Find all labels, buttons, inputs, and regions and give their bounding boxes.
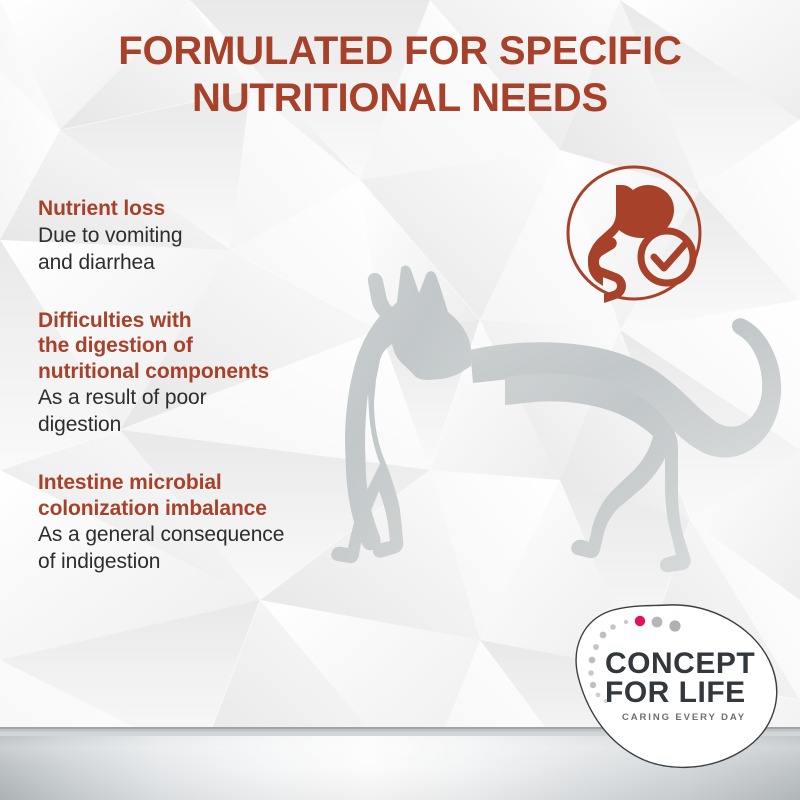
- list-item-body: As a general consequence of indigestion: [38, 521, 438, 575]
- list-item-title: Intestine microbial colonization imbalan…: [38, 470, 438, 521]
- page-title: FORMULATED FOR SPECIFIC NUTRITIONAL NEED…: [0, 28, 800, 122]
- list-item-body-line: and diarrhea: [38, 249, 438, 276]
- list-item-body: As a result of poor digestion: [38, 384, 438, 438]
- page-title-line-2: NUTRITIONAL NEEDS: [0, 75, 800, 122]
- list-item-body-line: As a result of poor: [38, 384, 438, 411]
- list-item-body-line: As a general consequence: [38, 521, 438, 548]
- list-item-title: Nutrient loss: [38, 196, 438, 222]
- list-item-title-line: nutritional components: [38, 359, 438, 385]
- list-item-title: Difficulties with the digestion of nutri…: [38, 308, 438, 385]
- list-item-title-line: Intestine microbial: [38, 470, 438, 496]
- list-item-title-line: Nutrient loss: [38, 196, 438, 222]
- brand-logo: CONCEPT FOR LIFE CARING EVERY DAY: [560, 600, 785, 775]
- list-item: Difficulties with the digestion of nutri…: [38, 308, 438, 439]
- list-item-body-line: Due to vomiting: [38, 222, 438, 249]
- list-item-title-line: Difficulties with: [38, 308, 438, 334]
- list-item-body-line: of indigestion: [38, 548, 438, 575]
- page-title-line-1: FORMULATED FOR SPECIFIC: [118, 29, 682, 73]
- list-item-body: Due to vomiting and diarrhea: [38, 222, 438, 276]
- list-item: Intestine microbial colonization imbalan…: [38, 470, 438, 575]
- list-item-title-line: the digestion of: [38, 333, 438, 359]
- stomach-check-icon: [564, 163, 704, 303]
- list-item-body-line: digestion: [38, 411, 438, 438]
- logo-blob-shape: [560, 600, 785, 775]
- list-item-title-line: colonization imbalance: [38, 496, 438, 522]
- infographic-canvas: FORMULATED FOR SPECIFIC NUTRITIONAL NEED…: [0, 0, 800, 800]
- benefit-list: Nutrient loss Due to vomiting and diarrh…: [38, 196, 438, 575]
- list-item: Nutrient loss Due to vomiting and diarrh…: [38, 196, 438, 276]
